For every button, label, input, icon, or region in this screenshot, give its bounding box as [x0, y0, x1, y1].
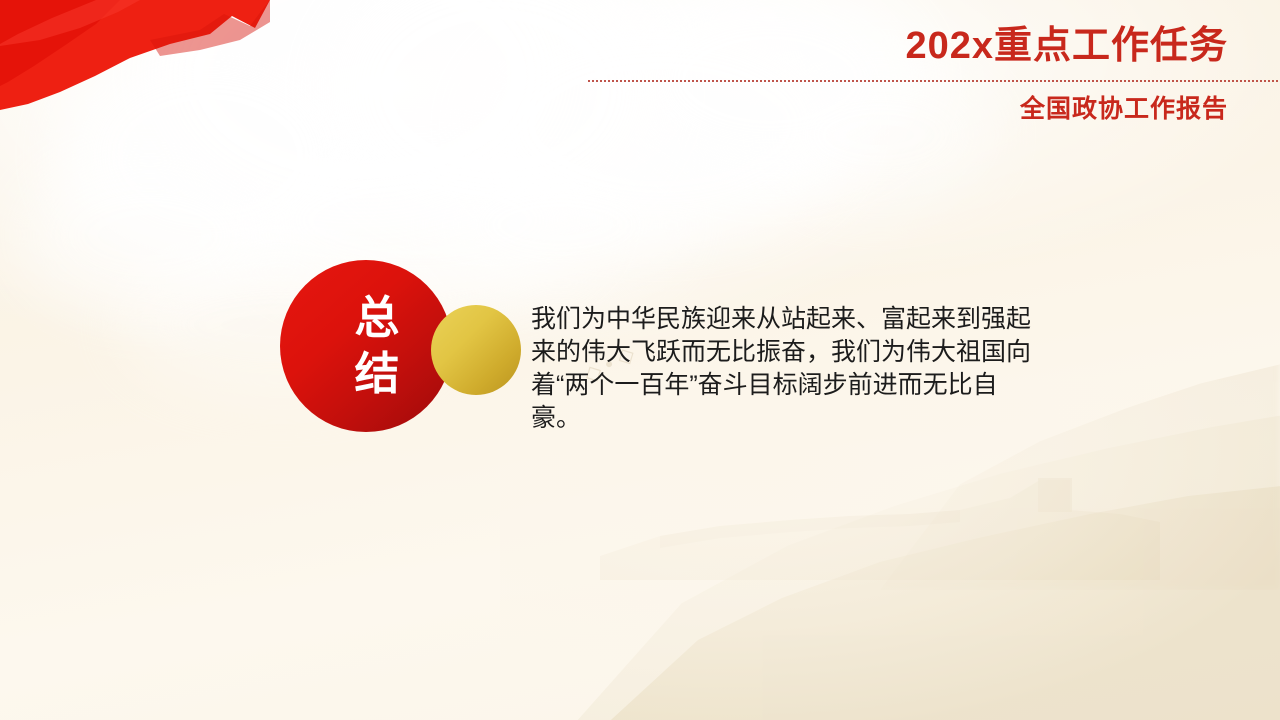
slide-header: 202x重点工作任务 全国政协工作报告 — [588, 24, 1228, 124]
summary-badge-label: 总 结 — [280, 260, 452, 432]
presentation-slide: 202x重点工作任务 全国政协工作报告 总 结 ◇ • ◇ 我们为中华民族迎来从… — [0, 0, 1280, 720]
summary-badge: 总 结 — [280, 260, 452, 432]
page-title: 202x重点工作任务 — [588, 24, 1228, 68]
header-divider — [588, 80, 1280, 82]
red-flag-icon — [0, 0, 270, 120]
summary-badge-char-2: 结 — [354, 346, 401, 402]
gold-accent-dot — [431, 305, 521, 395]
summary-paragraph: 我们为中华民族迎来从站起来、富起来到强起来的伟大飞跃而无比振奋，我们为伟大祖国向… — [531, 303, 1031, 435]
page-subtitle: 全国政协工作报告 — [588, 94, 1228, 124]
summary-badge-char-1: 总 — [354, 290, 401, 346]
